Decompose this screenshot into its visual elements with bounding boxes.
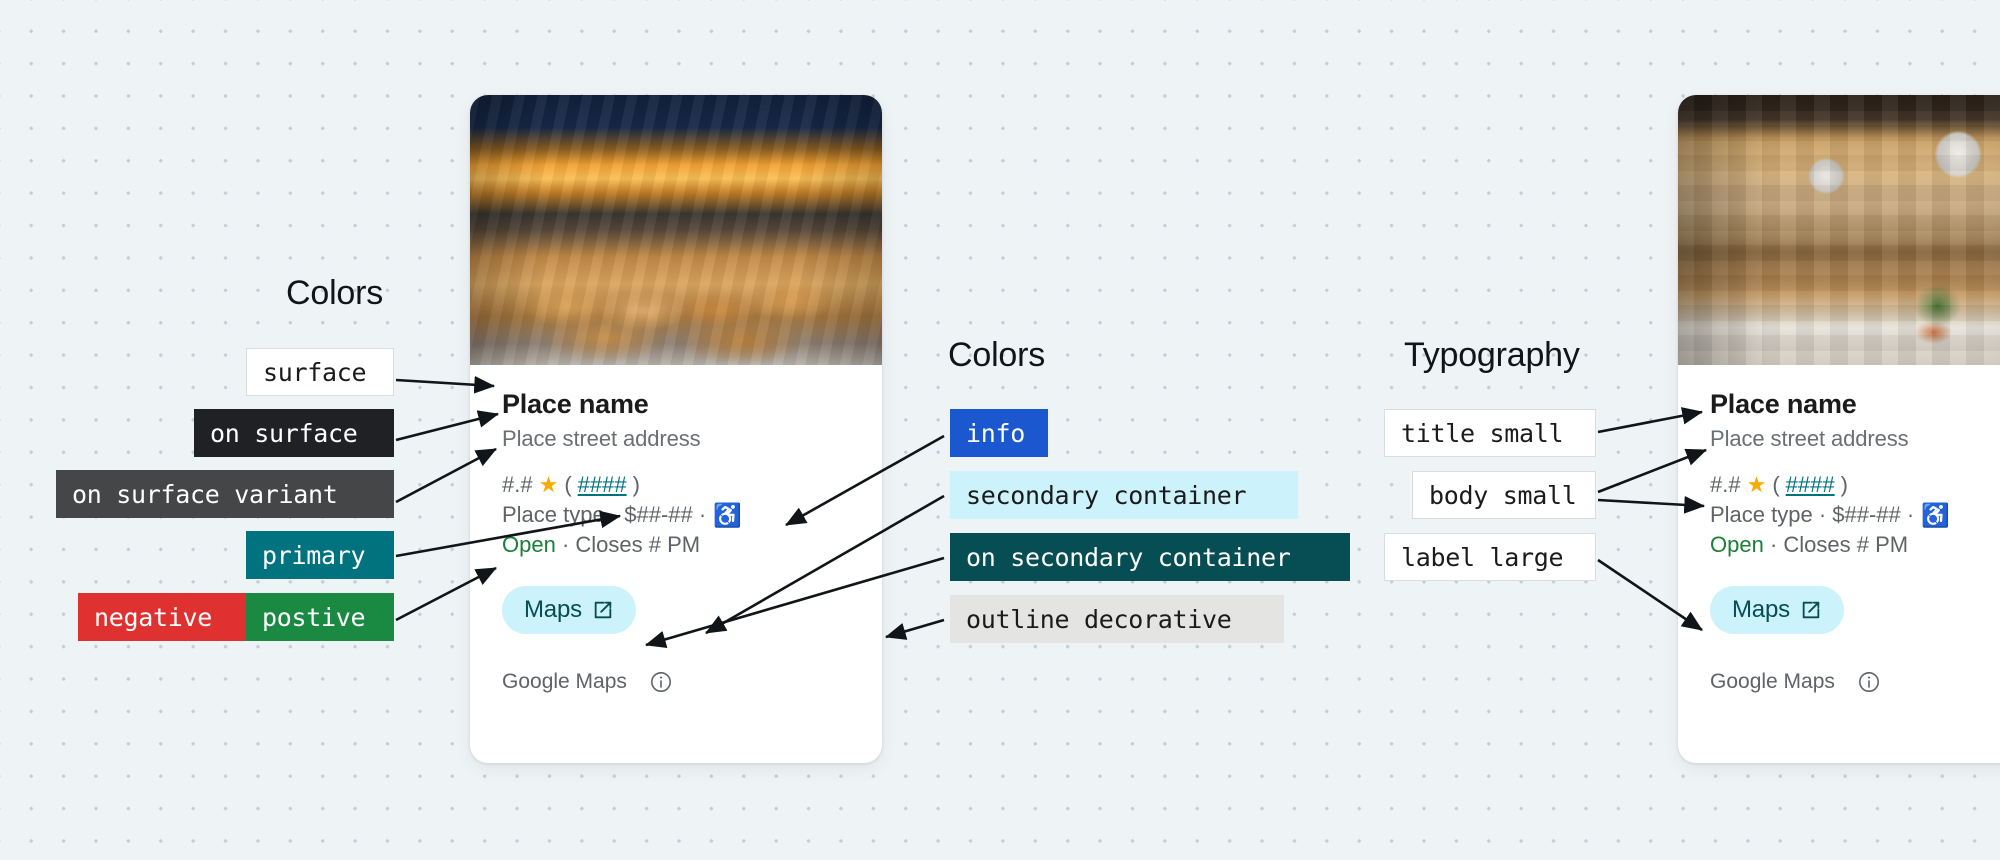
color-chip-surface[interactable]: surface	[246, 348, 394, 396]
wheelchair-icon: ♿	[1921, 504, 1950, 527]
maps-button[interactable]: Maps	[502, 586, 636, 634]
external-link-icon	[592, 599, 614, 621]
color-chip-secondary-container[interactable]: secondary container	[950, 471, 1298, 519]
typography-chip-label-large[interactable]: label large	[1384, 533, 1596, 581]
card-footer: Google Maps	[502, 670, 850, 694]
external-link-icon	[1800, 599, 1822, 621]
place-card-left[interactable]: Place name Place street address #.# ★ (#…	[470, 95, 882, 763]
place-meta: Place type · $##-## · ♿	[502, 502, 850, 528]
color-chip-primary[interactable]: primary	[246, 531, 394, 579]
place-hours: Open · Closes # PM	[502, 532, 850, 558]
review-count-link[interactable]: ####	[1786, 472, 1835, 498]
section-title-typography: Typography	[1404, 336, 1580, 375]
place-card-body: Place name Place street address #.# ★ (#…	[470, 365, 882, 694]
status-rest: · Closes # PM	[556, 532, 700, 557]
color-chip-postive[interactable]: postive	[246, 593, 394, 641]
color-chip-on-surface-variant[interactable]: on surface variant	[56, 470, 394, 518]
typography-chip-label: label large	[1401, 545, 1563, 570]
rating-value: #.#	[1710, 472, 1741, 498]
footer-label: Google Maps	[1710, 670, 1835, 694]
typography-chip-label: title small	[1401, 421, 1563, 446]
status-open: Open	[1710, 532, 1764, 557]
star-icon: ★	[1747, 474, 1767, 496]
place-rating-row: #.# ★ (####)	[502, 472, 850, 498]
color-chip-label: primary	[262, 543, 365, 568]
place-meta-text: Place type · $##-## ·	[1710, 502, 1914, 528]
rating-value: #.#	[502, 472, 533, 498]
color-chip-info[interactable]: info	[950, 409, 1048, 457]
color-chip-label: info	[966, 421, 1025, 446]
status-rest: · Closes # PM	[1764, 532, 1908, 557]
color-chip-label: outline decorative	[966, 607, 1232, 632]
review-count-open: (	[1772, 472, 1779, 498]
color-chip-label: secondary container	[966, 483, 1246, 508]
review-count-open: (	[564, 472, 571, 498]
maps-button-label: Maps	[1732, 596, 1790, 624]
section-title-colors-mid: Colors	[948, 336, 1045, 375]
color-chip-label: on surface	[210, 421, 358, 446]
info-icon[interactable]	[1857, 670, 1881, 694]
typography-chip-label: body small	[1429, 483, 1577, 508]
maps-button-label: Maps	[524, 596, 582, 624]
place-address: Place street address	[1710, 426, 2000, 452]
place-card-right[interactable]: Place name Place street address #.# ★ (#…	[1678, 95, 2000, 763]
status-open: Open	[502, 532, 556, 557]
color-chip-label: on secondary container	[966, 545, 1291, 570]
color-chip-label: on surface variant	[72, 482, 338, 507]
review-count-link[interactable]: ####	[578, 472, 627, 498]
typography-chip-body-small[interactable]: body small	[1412, 471, 1596, 519]
color-chip-on-surface[interactable]: on surface	[194, 409, 394, 457]
color-chip-negative[interactable]: negative	[78, 593, 246, 641]
place-name: Place name	[1710, 389, 2000, 420]
place-hours: Open · Closes # PM	[1710, 532, 2000, 558]
place-meta: Place type · $##-## · ♿	[1710, 502, 2000, 528]
footer-label: Google Maps	[502, 670, 627, 694]
place-card-body: Place name Place street address #.# ★ (#…	[1678, 365, 2000, 694]
place-address: Place street address	[502, 426, 850, 452]
color-chip-label: surface	[263, 360, 366, 385]
color-chip-label: postive	[262, 605, 365, 630]
color-chip-outline-decorative[interactable]: outline decorative	[950, 595, 1284, 643]
review-count-close: )	[1841, 472, 1848, 498]
place-rating-row: #.# ★ (####)	[1710, 472, 2000, 498]
star-icon: ★	[539, 474, 559, 496]
place-photo-bakery	[470, 95, 882, 365]
place-name: Place name	[502, 389, 850, 420]
section-title-colors-left: Colors	[286, 274, 383, 313]
color-chip-on-secondary-container[interactable]: on secondary container	[950, 533, 1350, 581]
wheelchair-icon: ♿	[713, 504, 742, 527]
maps-button[interactable]: Maps	[1710, 586, 1844, 634]
card-footer: Google Maps	[1710, 670, 2000, 694]
place-meta-text: Place type · $##-## ·	[502, 502, 706, 528]
info-icon[interactable]	[649, 670, 673, 694]
color-chip-label: negative	[94, 605, 212, 630]
review-count-close: )	[633, 472, 640, 498]
typography-chip-title-small[interactable]: title small	[1384, 409, 1596, 457]
place-photo-cafe	[1678, 95, 2000, 365]
